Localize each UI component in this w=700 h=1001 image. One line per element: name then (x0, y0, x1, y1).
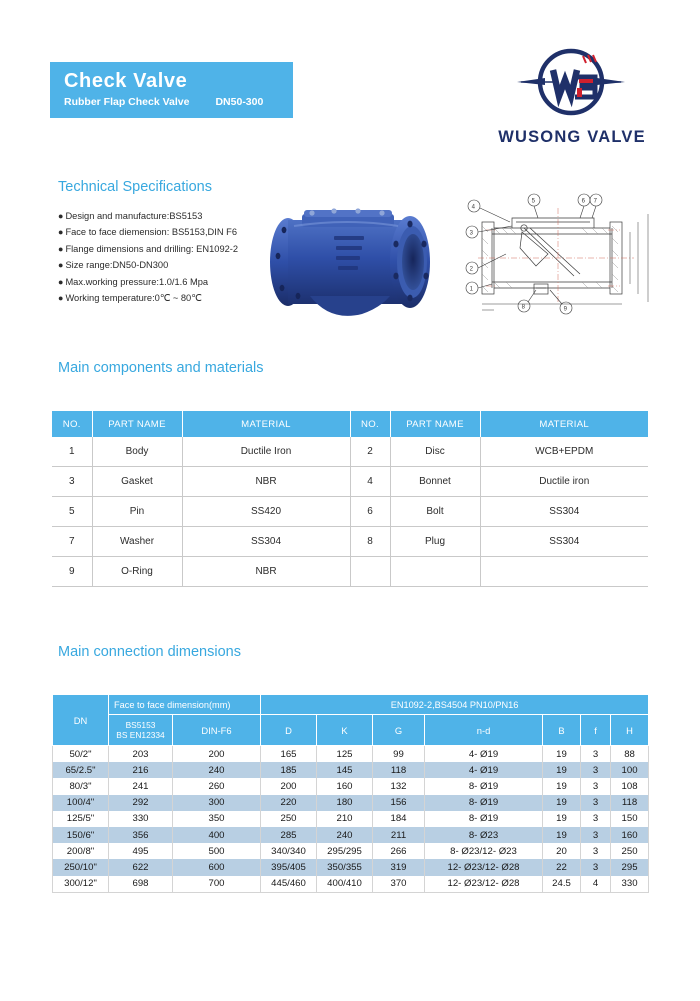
table-row: 125/5ʺ 330 350 250 210 184 8- Ø19 19 3 1… (53, 811, 649, 827)
cell-d: 445/460 (261, 876, 317, 893)
cell-h: 108 (611, 778, 649, 794)
cell-no (350, 557, 390, 587)
spec-text: Flange dimensions and drilling: EN1092-2 (65, 244, 238, 254)
col-header-nd: n-d (425, 715, 543, 746)
col-header-h: H (611, 715, 649, 746)
cell-no: 1 (52, 437, 92, 467)
cell-b: 19 (543, 778, 581, 794)
cell-nd: 8- Ø19 (425, 795, 543, 811)
cell-bs5153: 622 (109, 859, 173, 875)
table-row: 250/10ʺ 622 600 395/405 350/355 319 12- … (53, 859, 649, 875)
cell-bs5153: 698 (109, 876, 173, 893)
cell-no: 9 (52, 557, 92, 587)
cell-g: 118 (373, 762, 425, 778)
cell-b: 19 (543, 762, 581, 778)
table-row: 300/12ʺ 698 700 445/460 400/410 370 12- … (53, 876, 649, 893)
cell-k: 350/355 (317, 859, 373, 875)
cell-no: 6 (350, 497, 390, 527)
cell-material: SS304 (480, 497, 648, 527)
col-header-bs5153-line1: BS5153 (109, 720, 172, 730)
cell-dn: 50/2ʺ (53, 746, 109, 763)
col-header-bs5153-line2: BS EN12334 (109, 730, 172, 740)
cell-b: 19 (543, 746, 581, 763)
table-row: 9 O-Ring NBR (52, 557, 648, 587)
cell-f: 3 (581, 762, 611, 778)
cell-k: 210 (317, 811, 373, 827)
cell-din-f6: 700 (173, 876, 261, 893)
cell-f: 3 (581, 811, 611, 827)
cell-f: 3 (581, 843, 611, 859)
spec-item: ●Max.working pressure:1.0/1.6 Mpa (58, 274, 273, 290)
cell-din-f6: 600 (173, 859, 261, 875)
cell-d: 250 (261, 811, 317, 827)
col-header-material-1: MATERIAL (182, 411, 350, 437)
spec-text: Face to face diemension: BS5153,DIN F6 (65, 227, 237, 237)
cell-k: 160 (317, 778, 373, 794)
title-banner: Check Valve Rubber Flap Check Valve DN50… (50, 62, 293, 118)
cell-din-f6: 260 (173, 778, 261, 794)
col-header-b: B (543, 715, 581, 746)
dims-col-header-row: BS5153 BS EN12334 DIN-F6 D K G n-d B f H (53, 715, 649, 746)
group-header-face-to-face: Face to face dimension(mm) (109, 695, 261, 715)
cell-k: 400/410 (317, 876, 373, 893)
product-photo-check-valve (258, 196, 458, 324)
cell-f: 3 (581, 827, 611, 843)
cell-d: 285 (261, 827, 317, 843)
section-heading-main-components: Main components and materials (58, 360, 264, 376)
svg-text:5: 5 (532, 198, 536, 204)
col-header-g: G (373, 715, 425, 746)
cell-nd: 4- Ø19 (425, 746, 543, 763)
section-heading-technical-specifications: Technical Specifications (58, 179, 212, 195)
product-subtitle: Rubber Flap Check Valve (64, 96, 189, 108)
page-header: Check Valve Rubber Flap Check Valve DN50… (0, 0, 700, 170)
cell-din-f6: 350 (173, 811, 261, 827)
cell-h: 160 (611, 827, 649, 843)
logo-wordmark: WUSONG VALVE (487, 128, 657, 147)
cell-part-name: Plug (390, 527, 480, 557)
cell-material: NBR (182, 467, 350, 497)
cell-dn: 250/10ʺ (53, 859, 109, 875)
spec-text: Working temperature:0℃ ~ 80℃ (65, 293, 201, 303)
cell-part-name: Pin (92, 497, 182, 527)
connection-dimensions-table: DN Face to face dimension(mm) EN1092-2,B… (52, 694, 649, 893)
cell-d: 165 (261, 746, 317, 763)
cell-dn: 80/3ʺ (53, 778, 109, 794)
bullet-icon: ● (58, 274, 63, 290)
bullet-icon: ● (58, 257, 63, 273)
cell-bs5153: 241 (109, 778, 173, 794)
cell-g: 132 (373, 778, 425, 794)
table-row: 65/2.5ʺ 216 240 185 145 118 4- Ø19 19 3 … (53, 762, 649, 778)
cell-nd: 8- Ø23/12- Ø23 (425, 843, 543, 859)
cell-f: 3 (581, 795, 611, 811)
col-header-bs5153: BS5153 BS EN12334 (109, 715, 173, 746)
svg-text:6: 6 (582, 198, 586, 204)
col-header-material-2: MATERIAL (480, 411, 648, 437)
cell-nd: 8- Ø19 (425, 778, 543, 794)
cell-g: 370 (373, 876, 425, 893)
cell-b: 22 (543, 859, 581, 875)
cell-material: WCB+EPDM (480, 437, 648, 467)
svg-text:2: 2 (470, 266, 474, 272)
cell-bs5153: 203 (109, 746, 173, 763)
cell-g: 319 (373, 859, 425, 875)
table-row: 100/4ʺ 292 300 220 180 156 8- Ø19 19 3 1… (53, 795, 649, 811)
cell-nd: 12- Ø23/12- Ø28 (425, 859, 543, 875)
cell-h: 150 (611, 811, 649, 827)
cell-f: 4 (581, 876, 611, 893)
table-row: 50/2ʺ 203 200 165 125 99 4- Ø19 19 3 88 (53, 746, 649, 763)
cell-din-f6: 500 (173, 843, 261, 859)
col-header-dn: DN (53, 695, 109, 746)
cell-bs5153: 356 (109, 827, 173, 843)
dims-group-header-row: DN Face to face dimension(mm) EN1092-2,B… (53, 695, 649, 715)
cell-din-f6: 240 (173, 762, 261, 778)
cell-bs5153: 292 (109, 795, 173, 811)
cell-k: 180 (317, 795, 373, 811)
cell-g: 211 (373, 827, 425, 843)
cell-d: 200 (261, 778, 317, 794)
cell-dn: 125/5ʺ (53, 811, 109, 827)
product-size-range: DN50-300 (215, 96, 263, 108)
table-row: 1 Body Ductile Iron 2 Disc WCB+EPDM (52, 437, 648, 467)
table-row: 150/6ʺ 356 400 285 240 211 8- Ø23 19 3 1… (53, 827, 649, 843)
technical-drawing-cross-section: 1 2 3 4 5 6 7 8 9 (462, 192, 658, 320)
cell-h: 295 (611, 859, 649, 875)
table-row: 5 Pin SS420 6 Bolt SS304 (52, 497, 648, 527)
cell-g: 156 (373, 795, 425, 811)
table-row: 80/3ʺ 241 260 200 160 132 8- Ø19 19 3 10… (53, 778, 649, 794)
cell-g: 99 (373, 746, 425, 763)
cell-h: 118 (611, 795, 649, 811)
cell-din-f6: 200 (173, 746, 261, 763)
cell-h: 250 (611, 843, 649, 859)
cell-din-f6: 400 (173, 827, 261, 843)
cell-h: 100 (611, 762, 649, 778)
cell-g: 266 (373, 843, 425, 859)
cell-g: 184 (373, 811, 425, 827)
spec-text: Max.working pressure:1.0/1.6 Mpa (65, 277, 208, 287)
svg-text:1: 1 (470, 286, 474, 292)
cell-no: 4 (350, 467, 390, 497)
cell-part-name: Washer (92, 527, 182, 557)
spec-item: ●Flange dimensions and drilling: EN1092-… (58, 241, 273, 257)
cell-bs5153: 216 (109, 762, 173, 778)
cell-no: 7 (52, 527, 92, 557)
cell-b: 19 (543, 795, 581, 811)
cell-dn: 65/2.5ʺ (53, 762, 109, 778)
cell-part-name: O-Ring (92, 557, 182, 587)
cell-nd: 8- Ø23 (425, 827, 543, 843)
cell-nd: 8- Ø19 (425, 811, 543, 827)
company-logo: WUSONG VALVE (487, 44, 657, 154)
cell-f: 3 (581, 778, 611, 794)
cell-nd: 12- Ø23/12- Ø28 (425, 876, 543, 893)
cell-din-f6: 300 (173, 795, 261, 811)
col-header-part-name-1: PART NAME (92, 411, 182, 437)
cell-no: 8 (350, 527, 390, 557)
spec-item: ●Face to face diemension: BS5153,DIN F6 (58, 224, 273, 240)
cell-d: 220 (261, 795, 317, 811)
cell-nd: 4- Ø19 (425, 762, 543, 778)
svg-text:8: 8 (522, 304, 526, 310)
cell-dn: 200/8ʺ (53, 843, 109, 859)
svg-text:3: 3 (470, 230, 474, 236)
cell-part-name: Bolt (390, 497, 480, 527)
cell-b: 19 (543, 827, 581, 843)
bullet-icon: ● (58, 224, 63, 240)
cell-material: NBR (182, 557, 350, 587)
cell-h: 330 (611, 876, 649, 893)
cell-dn: 100/4ʺ (53, 795, 109, 811)
spec-item: ●Design and manufacture:BS5153 (58, 208, 273, 224)
spec-item: ●Size range:DN50-DN300 (58, 257, 273, 273)
table-row: 200/8ʺ 495 500 340/340 295/295 266 8- Ø2… (53, 843, 649, 859)
table-row: 3 Gasket NBR 4 Bonnet Ductile iron (52, 467, 648, 497)
col-header-no-1: NO. (52, 411, 92, 437)
table-row: 7 Washer SS304 8 Plug SS304 (52, 527, 648, 557)
logo-mark-icon (515, 44, 627, 122)
svg-text:7: 7 (594, 198, 598, 204)
cell-f: 3 (581, 859, 611, 875)
col-header-f: f (581, 715, 611, 746)
spec-text: Design and manufacture:BS5153 (65, 211, 202, 221)
table-header-row: NO. PART NAME MATERIAL NO. PART NAME MAT… (52, 411, 648, 437)
cell-dn: 300/12ʺ (53, 876, 109, 893)
cell-bs5153: 495 (109, 843, 173, 859)
cell-no: 5 (52, 497, 92, 527)
cell-f: 3 (581, 746, 611, 763)
svg-text:9: 9 (564, 306, 568, 312)
spec-item: ●Working temperature:0℃ ~ 80℃ (58, 290, 273, 306)
cell-part-name (390, 557, 480, 587)
cell-h: 88 (611, 746, 649, 763)
cell-material: SS304 (480, 527, 648, 557)
cell-part-name: Disc (390, 437, 480, 467)
cell-d: 185 (261, 762, 317, 778)
technical-specifications-list: ●Design and manufacture:BS5153 ●Face to … (58, 208, 273, 306)
cell-no: 3 (52, 467, 92, 497)
cell-no: 2 (350, 437, 390, 467)
col-header-d: D (261, 715, 317, 746)
section-heading-main-connection-dimensions: Main connection dimensions (58, 644, 241, 660)
cell-k: 240 (317, 827, 373, 843)
col-header-no-2: NO. (350, 411, 390, 437)
cell-part-name: Gasket (92, 467, 182, 497)
cell-k: 145 (317, 762, 373, 778)
cell-material: SS304 (182, 527, 350, 557)
spec-text: Size range:DN50-DN300 (65, 260, 168, 270)
cell-bs5153: 330 (109, 811, 173, 827)
cell-dn: 150/6ʺ (53, 827, 109, 843)
cell-material: SS420 (182, 497, 350, 527)
cell-k: 295/295 (317, 843, 373, 859)
components-materials-table: NO. PART NAME MATERIAL NO. PART NAME MAT… (52, 411, 648, 587)
cell-material: Ductile Iron (182, 437, 350, 467)
group-header-standard: EN1092-2,BS4504 PN10/PN16 (261, 695, 649, 715)
banner-subtitle-row: Rubber Flap Check Valve DN50-300 (64, 96, 293, 108)
cell-k: 125 (317, 746, 373, 763)
bullet-icon: ● (58, 290, 63, 306)
cell-d: 395/405 (261, 859, 317, 875)
cell-b: 19 (543, 811, 581, 827)
cell-material (480, 557, 648, 587)
bullet-icon: ● (58, 208, 63, 224)
page-title: Check Valve (64, 70, 293, 92)
col-header-part-name-2: PART NAME (390, 411, 480, 437)
cell-b: 24.5 (543, 876, 581, 893)
cell-b: 20 (543, 843, 581, 859)
svg-text:4: 4 (472, 204, 476, 210)
bullet-icon: ● (58, 241, 63, 257)
cell-part-name: Bonnet (390, 467, 480, 497)
cell-part-name: Body (92, 437, 182, 467)
cell-material: Ductile iron (480, 467, 648, 497)
col-header-din-f6: DIN-F6 (173, 715, 261, 746)
col-header-k: K (317, 715, 373, 746)
cell-d: 340/340 (261, 843, 317, 859)
